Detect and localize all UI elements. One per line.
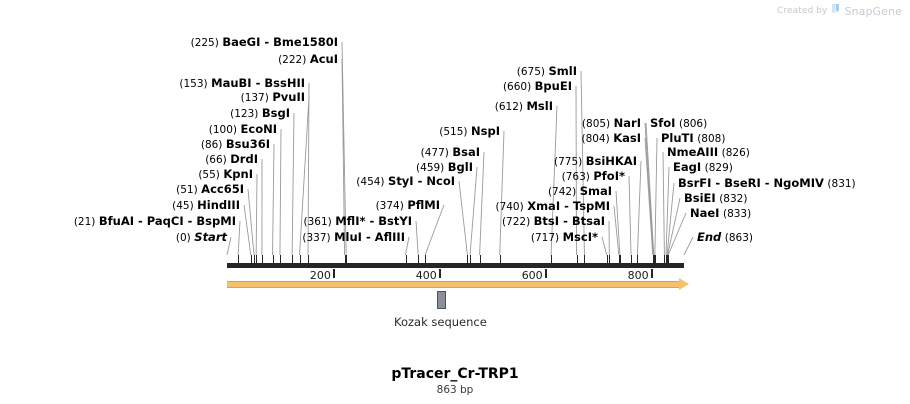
site-tick (262, 255, 263, 263)
enzyme-name: MscI* (563, 230, 598, 244)
label-enzyme-names: BsiEI (684, 192, 716, 205)
enzyme-name: BtsI (534, 214, 559, 228)
site-tick (467, 255, 468, 263)
axis-tick (333, 269, 335, 278)
plasmid-map: Created by SnapGene (225) BaeGI - Bme158… (0, 0, 910, 404)
label-connector (668, 198, 680, 255)
sequence-arrow-shaft (227, 281, 680, 288)
enzyme-label-kasi[interactable]: (804) KasI (0, 132, 641, 145)
site-tick (480, 255, 481, 263)
label-enzyme-names: SmlI (549, 65, 578, 78)
enzyme-label-bsiei[interactable]: BsiEI (832) (684, 192, 747, 205)
site-tick (470, 255, 471, 263)
enzyme-name: NmeAIII (667, 145, 718, 159)
enzyme-label-pfoi[interactable]: (763) PfoI* (0, 170, 625, 183)
label-separator: - (711, 176, 724, 190)
label-enzyme-names: NmeAIII (667, 146, 718, 159)
site-tick (238, 255, 239, 263)
feature-box[interactable] (437, 291, 446, 309)
site-tick (308, 255, 309, 263)
label-position: (832) (719, 193, 747, 205)
label-enzyme-names: MslI (526, 100, 553, 113)
enzyme-name: BsiEI (684, 191, 716, 205)
site-tick (668, 255, 669, 263)
label-position: (863) (725, 232, 753, 244)
label-position: (826) (722, 147, 750, 159)
site-tick (609, 255, 610, 263)
ruler-bar (227, 264, 684, 268)
label-position: (660) (503, 81, 531, 93)
label-separator: - (559, 214, 572, 228)
feature-label: Kozak sequence (0, 315, 895, 329)
label-enzyme-names: BsiHKAI (586, 155, 637, 168)
enzyme-name: SfoI (650, 116, 675, 130)
site-tick (620, 255, 621, 263)
sequence-arrow-head (679, 278, 689, 290)
label-separator: - (560, 199, 573, 213)
enzyme-name: NarI (614, 116, 641, 130)
label-connector (667, 183, 674, 255)
site-tick (254, 255, 255, 263)
label-position: (742) (548, 186, 576, 198)
label-position: (806) (679, 118, 707, 130)
enzyme-label-msli[interactable]: (612) MslI (0, 100, 553, 113)
site-tick (300, 255, 301, 263)
label-connector (637, 161, 641, 255)
label-position: (804) (581, 133, 609, 145)
label-enzyme-names: PfoI* (593, 170, 625, 183)
enzyme-name: End (697, 230, 721, 244)
enzyme-name: SmlI (549, 64, 578, 78)
axis-tick (439, 269, 441, 278)
enzyme-label-xmai-tspmi[interactable]: (740) XmaI - TspMI (0, 200, 610, 213)
enzyme-name: KasI (613, 131, 641, 145)
enzyme-name: BtsaI (572, 214, 605, 228)
enzyme-name: BpuEI (535, 79, 572, 93)
label-connector (616, 191, 620, 255)
site-tick (619, 255, 620, 263)
label-position: (612) (495, 101, 523, 113)
label-position: (808) (697, 133, 725, 145)
label-position: (717) (531, 232, 559, 244)
label-enzyme-names: BtsI - BtsaI (534, 215, 605, 228)
enzyme-name: TspMI (573, 199, 610, 213)
enzyme-label-btsi-btsai[interactable]: (722) BtsI - BtsaI (0, 215, 605, 228)
label-position: (829) (705, 162, 733, 174)
label-enzyme-names: BpuEI (535, 80, 572, 93)
label-connector (663, 152, 664, 255)
enzyme-name: MslI (526, 99, 553, 113)
enzyme-name: PfoI* (593, 169, 625, 183)
site-tick (500, 255, 501, 263)
enzyme-name: BseRI (724, 176, 761, 190)
label-enzyme-names: SfoI (650, 117, 675, 130)
label-connector (666, 167, 669, 255)
label-connector (684, 237, 693, 255)
label-connector (668, 213, 686, 255)
site-tick (577, 255, 578, 263)
label-connector (629, 176, 631, 255)
label-position: (740) (495, 201, 523, 213)
enzyme-label-eagi[interactable]: EagI (829) (673, 161, 733, 174)
enzyme-label-sfoi[interactable]: SfoI (806) (650, 117, 707, 130)
site-tick (631, 255, 632, 263)
enzyme-name: BsrFI (678, 176, 711, 190)
label-connector (614, 206, 619, 255)
enzyme-name: NgoMIV (774, 176, 824, 190)
label-enzyme-names: EagI (673, 161, 701, 174)
enzyme-label-nmeaiii[interactable]: NmeAIII (826) (667, 146, 750, 159)
label-connector (655, 138, 657, 255)
site-tick (346, 255, 347, 263)
axis-tick (545, 269, 547, 278)
page-title: pTracer_Cr-TRP1 (0, 366, 910, 382)
label-enzyme-names: NarI (614, 117, 641, 130)
site-tick (425, 255, 426, 263)
enzyme-label-pluti[interactable]: PluTI (808) (661, 132, 725, 145)
label-position: (722) (502, 216, 530, 228)
label-position: (831) (827, 178, 855, 190)
site-tick (637, 255, 638, 263)
label-enzyme-names: End (697, 231, 721, 244)
enzyme-label-smai[interactable]: (742) SmaI (0, 185, 612, 198)
label-position: (833) (723, 208, 751, 220)
label-position: (775) (554, 156, 582, 168)
enzyme-label-nari[interactable]: (805) NarI (0, 117, 641, 130)
site-tick (251, 255, 252, 263)
label-position: (763) (562, 171, 590, 183)
label-position: (805) (582, 118, 610, 130)
label-enzyme-names: BsrFI - BseRI - NgoMIV (678, 177, 824, 190)
site-tick (292, 255, 293, 263)
site-tick (655, 255, 656, 263)
enzyme-name: NaeI (690, 206, 719, 220)
enzyme-label-smli[interactable]: (675) SmlI (0, 65, 577, 78)
site-tick (345, 255, 346, 263)
label-enzyme-names: XmaI - TspMI (527, 200, 610, 213)
label-connector (602, 237, 607, 255)
label-enzyme-names: SmaI (580, 185, 612, 198)
site-tick (607, 255, 608, 263)
site-tick (551, 255, 552, 263)
label-enzyme-names: MscI* (563, 231, 598, 244)
enzyme-label-naei[interactable]: NaeI (833) (690, 207, 751, 220)
enzyme-label-msci[interactable]: (717) MscI* (0, 231, 598, 244)
label-position: (675) (517, 66, 545, 78)
label-connector (646, 123, 654, 255)
enzyme-name: XmaI (527, 199, 560, 213)
label-enzyme-names: PluTI (661, 132, 694, 145)
label-enzyme-names: NaeI (690, 207, 719, 220)
sequence-length: 863 bp (0, 384, 910, 396)
site-tick (256, 255, 257, 263)
enzyme-name: SmaI (580, 184, 612, 198)
site-tick (273, 255, 274, 263)
enzyme-label-bsrfi-bseri-ngomiv[interactable]: BsrFI - BseRI - NgoMIV (831) (678, 177, 856, 190)
enzyme-label-end[interactable]: End (863) (697, 231, 753, 244)
enzyme-name: PluTI (661, 131, 694, 145)
enzyme-label-bpuei[interactable]: (660) BpuEI (0, 80, 572, 93)
enzyme-name: BsiHKAI (586, 154, 637, 168)
label-connector (645, 138, 653, 255)
enzyme-name: EagI (673, 160, 701, 174)
site-tick (418, 255, 419, 263)
site-tick (280, 255, 281, 263)
site-tick (406, 255, 407, 263)
label-connector (645, 123, 653, 255)
axis-tick (651, 269, 653, 278)
sequence-ruler: 200400600800 (0, 0, 910, 60)
label-separator: - (761, 176, 774, 190)
enzyme-label-bsihkai[interactable]: (775) BsiHKAI (0, 155, 637, 168)
site-tick (584, 255, 585, 263)
label-enzyme-names: KasI (613, 132, 641, 145)
